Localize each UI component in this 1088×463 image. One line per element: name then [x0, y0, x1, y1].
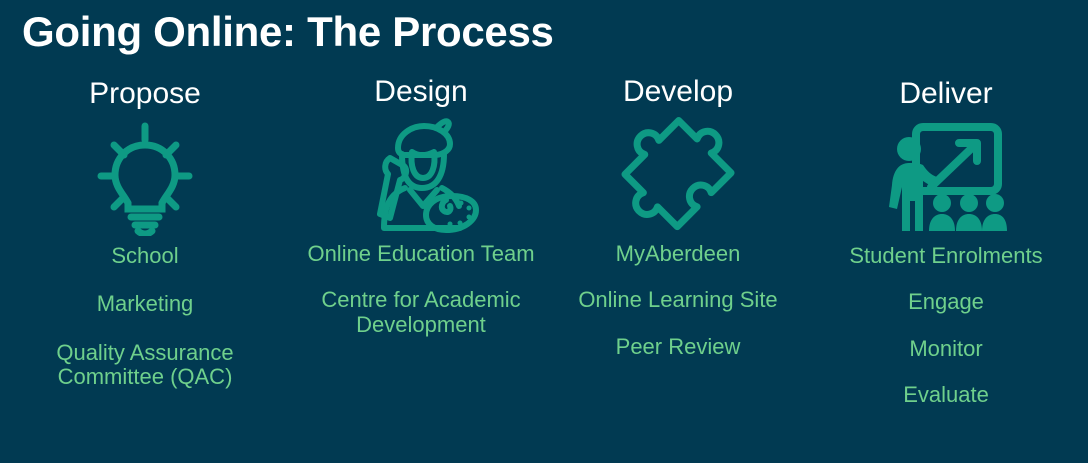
list-item: Centre for Academic Development	[290, 288, 552, 337]
list-item: Quality Assurance Committee (QAC)	[0, 341, 290, 390]
stage-header-propose: Propose	[89, 78, 201, 110]
stage-header-design: Design	[374, 76, 467, 108]
stage-items-design: Online Education Team Centre for Academi…	[290, 242, 552, 338]
list-item: MyAberdeen	[610, 242, 747, 267]
list-item: Monitor	[903, 337, 988, 362]
process-stage-deliver: Deliver	[804, 78, 1088, 408]
list-item: Peer Review	[610, 335, 747, 360]
artist-palette-icon	[360, 114, 482, 236]
list-item: Evaluate	[897, 383, 995, 408]
lightbulb-icon	[85, 116, 205, 238]
list-item: Online Education Team	[301, 242, 540, 267]
page-title: Going Online: The Process	[22, 8, 554, 56]
stage-header-deliver: Deliver	[899, 78, 992, 110]
process-columns: Propose School	[0, 78, 1088, 408]
stage-items-deliver: Student Enrolments Engage Monitor Evalua…	[804, 244, 1088, 409]
stage-header-develop: Develop	[623, 76, 733, 108]
process-stage-design: Design	[290, 78, 552, 337]
stage-items-develop: MyAberdeen Online Learning Site Peer Rev…	[552, 242, 804, 360]
puzzle-piece-icon	[619, 114, 737, 236]
process-stage-develop: Develop MyAberdeen Online Learning Site …	[552, 78, 804, 359]
list-item: Student Enrolments	[843, 244, 1048, 269]
stage-items-propose: School Marketing Quality Assurance Commi…	[0, 244, 290, 391]
slide-canvas: Going Online: The Process Propose	[0, 0, 1088, 463]
list-item: Engage	[902, 290, 990, 315]
list-item: Online Learning Site	[572, 288, 783, 313]
process-stage-propose: Propose School	[0, 78, 290, 390]
presenter-classroom-icon	[885, 116, 1007, 238]
list-item: School	[105, 244, 184, 269]
list-item: Marketing	[91, 292, 200, 317]
